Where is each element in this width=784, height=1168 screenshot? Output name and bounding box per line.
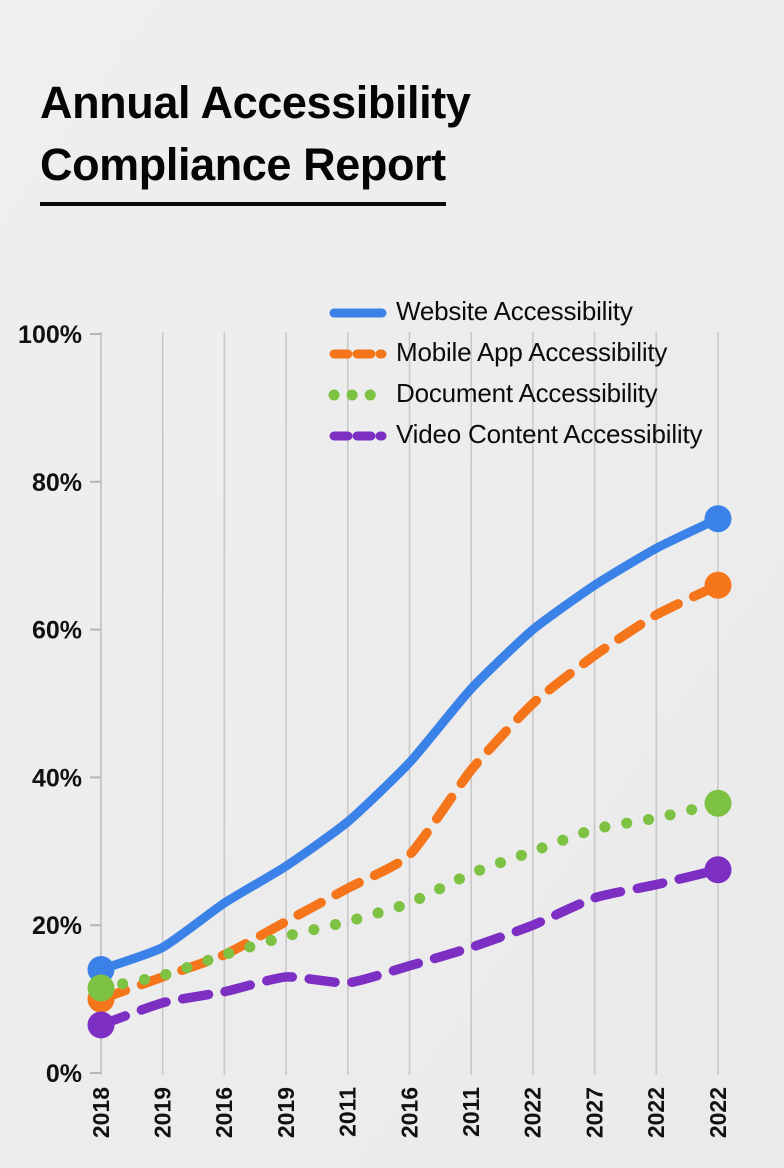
y-tick-label: 100% xyxy=(18,321,82,349)
x-tick-label: 2018 xyxy=(88,1087,114,1138)
series-endpoint-marker xyxy=(705,790,732,817)
y-tick-label: 80% xyxy=(32,469,82,497)
x-axis-labels: 2018201920162019201120162011202220272022… xyxy=(88,1087,731,1138)
x-tick-label: 2011 xyxy=(458,1087,484,1137)
x-tick-label: 2027 xyxy=(581,1087,607,1138)
legend-swatch-icon xyxy=(332,430,384,439)
series-endpoint-marker xyxy=(88,975,115,1002)
legend-item-label: Website Accessibility xyxy=(396,296,633,327)
x-tick-label: 2011 xyxy=(335,1087,361,1137)
x-tick-label: 2022 xyxy=(643,1087,669,1138)
x-tick-label: 2016 xyxy=(211,1087,237,1138)
chart-container: Annual Accessibility Compliance Report 0… xyxy=(0,0,784,1168)
legend-item-label: Document Accessibility xyxy=(396,378,657,409)
legend-item[interactable]: Document Accessibility xyxy=(332,373,784,414)
legend-swatch-icon xyxy=(332,307,384,316)
legend-swatch-icon xyxy=(332,348,384,357)
line-chart-plot: 0%20%40%60%80%100% 201820192016201920112… xyxy=(0,0,784,1168)
chart-legend: Website AccessibilityMobile App Accessib… xyxy=(332,291,784,455)
x-tick-label: 2019 xyxy=(273,1087,299,1138)
legend-item-label: Video Content Accessibility xyxy=(396,419,702,450)
x-tick-label: 2022 xyxy=(520,1087,546,1138)
series-endpoint-marker xyxy=(88,1011,115,1038)
x-tick-label: 2019 xyxy=(150,1087,176,1138)
legend-item-label: Mobile App Accessibility xyxy=(396,337,667,368)
x-tick-label: 2016 xyxy=(396,1087,422,1138)
legend-item[interactable]: Mobile App Accessibility xyxy=(332,332,784,373)
y-tick-label: 20% xyxy=(32,912,82,940)
series-endpoint-marker xyxy=(705,856,732,883)
series-endpoint-marker xyxy=(705,505,732,532)
y-tick-label: 60% xyxy=(32,617,82,645)
series-endpoint-marker xyxy=(705,572,732,599)
legend-swatch-icon xyxy=(332,389,384,398)
y-tick-label: 40% xyxy=(32,764,82,792)
x-tick-label: 2022 xyxy=(705,1087,731,1138)
legend-item[interactable]: Website Accessibility xyxy=(332,291,784,332)
legend-item[interactable]: Video Content Accessibility xyxy=(332,414,784,455)
y-tick-label: 0% xyxy=(46,1060,82,1088)
